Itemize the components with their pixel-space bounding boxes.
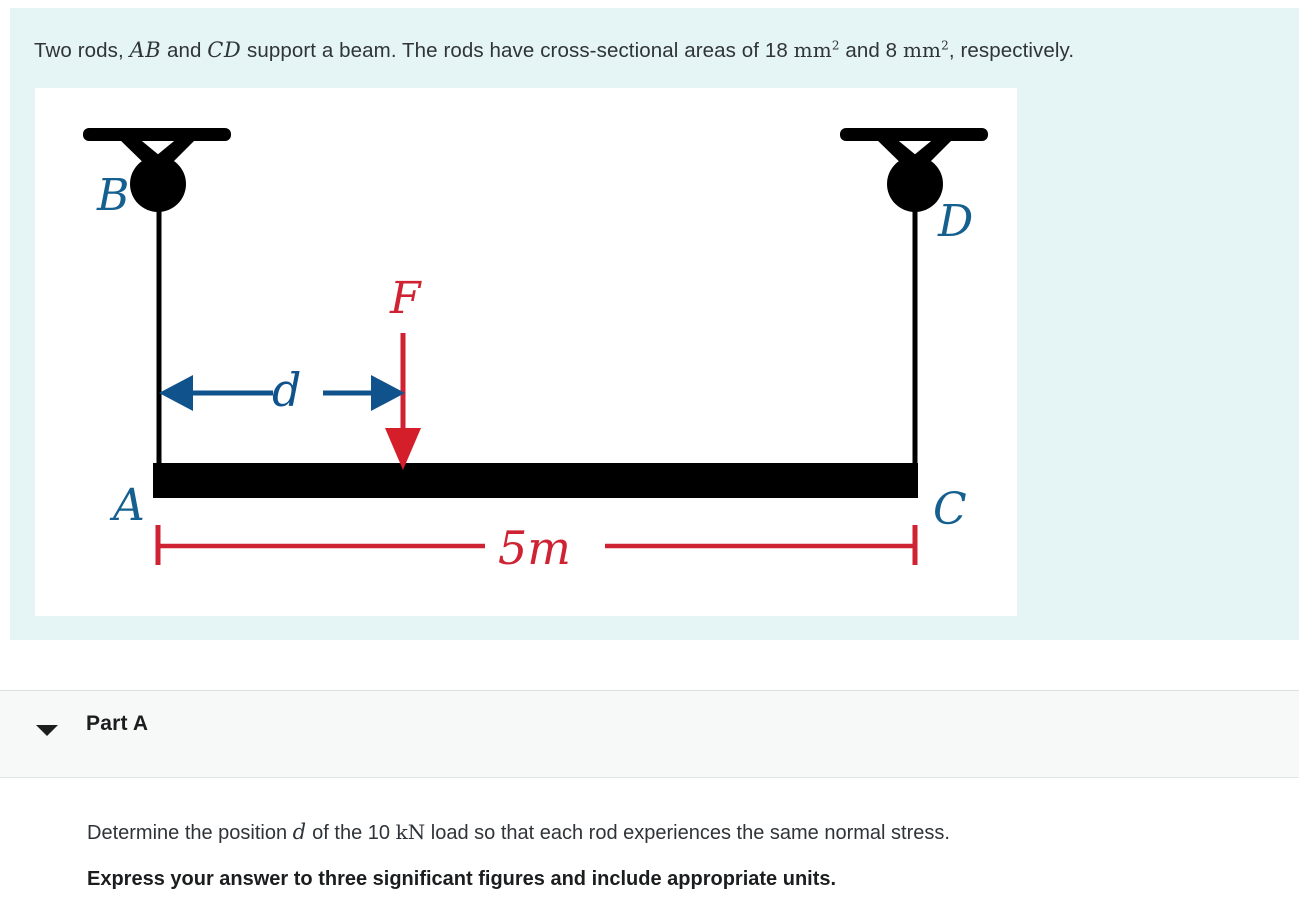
- unit-exponent-1: 2: [832, 38, 840, 52]
- question-unit-kn: kN: [396, 820, 426, 844]
- figure-canvas: F d 5m B: [35, 88, 1017, 616]
- dimension-d-arrowhead-left: [159, 375, 193, 411]
- load-force-f: F: [385, 273, 422, 470]
- label-point-d: D: [937, 196, 973, 247]
- label-point-a: A: [109, 480, 145, 531]
- label-point-b: B: [96, 170, 129, 221]
- part-a-header[interactable]: Part A: [0, 690, 1299, 778]
- dimension-d-label: d: [272, 363, 301, 417]
- dimension-d-arrowhead-right: [371, 375, 405, 411]
- force-f-label: F: [389, 273, 422, 324]
- support-d-pin: [887, 156, 943, 212]
- problem-text-segment-5: , respectively.: [949, 39, 1074, 62]
- question-text-segment-2: of the 10: [307, 822, 396, 844]
- problem-text-segment-4: and 8: [840, 39, 903, 62]
- problem-unit-mm-1: mm2: [794, 38, 840, 62]
- question-instruction: Express your answer to three significant…: [87, 868, 836, 891]
- problem-text-segment-1: Two rods,: [34, 39, 130, 62]
- unit-text-1: mm: [794, 38, 832, 62]
- question-text-segment-3: load so that each rod experiences the sa…: [425, 822, 950, 844]
- unit-exponent-2: 2: [941, 38, 949, 52]
- problem-unit-mm-2: mm2: [903, 38, 949, 62]
- question-var-d: d: [293, 820, 307, 844]
- part-a-title: Part A: [86, 712, 148, 736]
- label-point-c: C: [933, 484, 967, 535]
- dimension-span-label: 5m: [498, 521, 571, 575]
- question-prompt: Determine the position d of the 10 kN lo…: [87, 820, 950, 845]
- problem-var-ab: AB: [130, 38, 162, 62]
- problem-page: Two rods, AB and CD support a beam. The …: [0, 0, 1299, 908]
- unit-text-2: mm: [903, 38, 941, 62]
- problem-statement-panel: Two rods, AB and CD support a beam. The …: [10, 8, 1299, 640]
- problem-statement-text: Two rods, AB and CD support a beam. The …: [34, 36, 1074, 65]
- dimension-d: d: [159, 363, 405, 417]
- dimension-span: 5m: [158, 521, 915, 575]
- support-b-pin: [130, 156, 186, 212]
- problem-text-segment-2: and: [161, 39, 207, 62]
- support-d-ceiling-bar: [840, 128, 988, 141]
- beam-ac: [153, 463, 918, 498]
- question-text-segment-1: Determine the position: [87, 822, 293, 844]
- triangle-down-icon[interactable]: [36, 725, 58, 736]
- problem-var-cd: CD: [207, 38, 241, 62]
- problem-text-segment-3: support a beam. The rods have cross-sect…: [241, 39, 793, 62]
- beam-diagram: F d 5m B: [35, 88, 1017, 616]
- support-b-ceiling-bar: [83, 128, 231, 141]
